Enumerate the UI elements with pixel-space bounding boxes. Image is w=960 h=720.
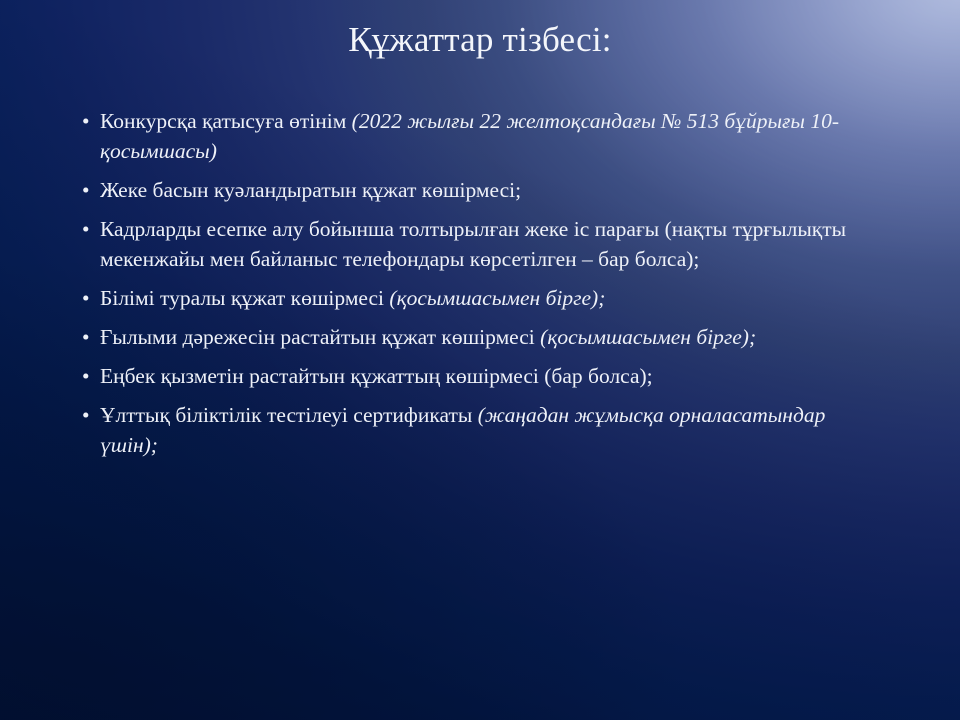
list-item-text: Ғылыми дәрежесін растайтын құжат көшірме…	[100, 325, 540, 349]
list-item-text: Жеке басын куәландыратын құжат көшірмесі…	[100, 178, 521, 202]
bullet-marker-icon: •	[82, 106, 96, 136]
list-item: • Ұлттық біліктілік тестілеуі сертификат…	[78, 400, 882, 460]
document-requirements-list: • Конкурсқа қатысуға өтінім (2022 жылғы …	[78, 106, 890, 469]
slide-title: Құжаттар тізбесі:	[0, 18, 960, 62]
list-item-text: Білімі туралы құжат көшірмесі	[100, 286, 389, 310]
bullet-marker-icon: •	[82, 400, 96, 430]
list-item: • Кадрларды есепке алу бойынша толтырылғ…	[78, 214, 860, 274]
list-item-text: Конкурсқа қатысуға өтінім	[100, 109, 352, 133]
list-item: • Білімі туралы құжат көшірмесі (қосымша…	[78, 283, 890, 313]
list-item: • Ғылыми дәрежесін растайтын құжат көшір…	[78, 322, 900, 352]
list-item-text: Ұлттық біліктілік тестілеуі сертификаты	[100, 403, 478, 427]
list-item-text: Кадрларды есепке алу бойынша толтырылған…	[100, 217, 846, 271]
bullet-marker-icon: •	[82, 283, 96, 313]
bullet-marker-icon: •	[82, 361, 96, 391]
presentation-slide: Құжаттар тізбесі: • Конкурсқа қатысуға ө…	[0, 0, 960, 720]
list-item-text: Еңбек қызметін растайтын құжаттың көшірм…	[100, 364, 653, 388]
list-item-text-italic: (қосымшасымен бірге);	[540, 325, 756, 349]
bullet-marker-icon: •	[82, 322, 96, 352]
list-item: • Еңбек қызметін растайтын құжаттың көші…	[78, 361, 890, 391]
list-item-text-italic: (қосымшасымен бірге);	[389, 286, 605, 310]
list-item: • Конкурсқа қатысуға өтінім (2022 жылғы …	[78, 106, 890, 166]
list-item: • Жеке басын куәландыратын құжат көшірме…	[78, 175, 890, 205]
bullet-marker-icon: •	[82, 214, 96, 244]
bullet-marker-icon: •	[82, 175, 96, 205]
